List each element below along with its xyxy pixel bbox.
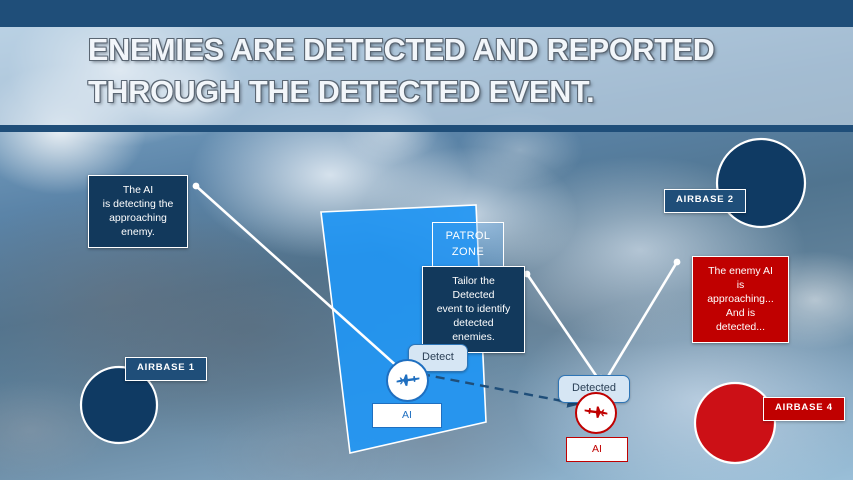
enemy-ai-callout: The enemy AI is approaching... And is de… <box>692 256 789 343</box>
airbase-2-label: AIRBASE 2 <box>664 189 746 213</box>
connector-enemy-callout <box>607 262 677 378</box>
friendly-unit-name[interactable]: AI <box>372 403 442 428</box>
fighter-jet-icon <box>582 399 610 427</box>
slide-canvas: ENEMIES ARE DETECTED AND REPORTED THROUG… <box>0 0 853 480</box>
connector-endpoint-dot <box>193 183 200 190</box>
connector-endpoint-dot <box>674 259 681 266</box>
patrol-zone-label: PATROL ZONE <box>432 222 504 268</box>
airbase-4-label: AIRBASE 4 <box>763 397 845 421</box>
friendly-unit-marker <box>386 359 429 402</box>
airbase-1-label: AIRBASE 1 <box>125 357 207 381</box>
airbase-4-marker <box>695 383 775 463</box>
tailor-event-callout: Tailor the Detected event to identify de… <box>422 266 525 353</box>
friendly-ai-callout: The AI is detecting the approaching enem… <box>88 175 188 248</box>
fighter-jet-icon <box>394 367 422 395</box>
connector-tailor-callout <box>527 274 597 377</box>
title-band-rule <box>0 125 853 132</box>
enemy-unit-name[interactable]: AI <box>566 437 628 462</box>
airbase-2-marker <box>717 139 805 227</box>
page-title: ENEMIES ARE DETECTED AND REPORTED THROUG… <box>88 29 828 113</box>
header-bar <box>0 0 853 27</box>
enemy-unit-marker <box>575 392 617 434</box>
